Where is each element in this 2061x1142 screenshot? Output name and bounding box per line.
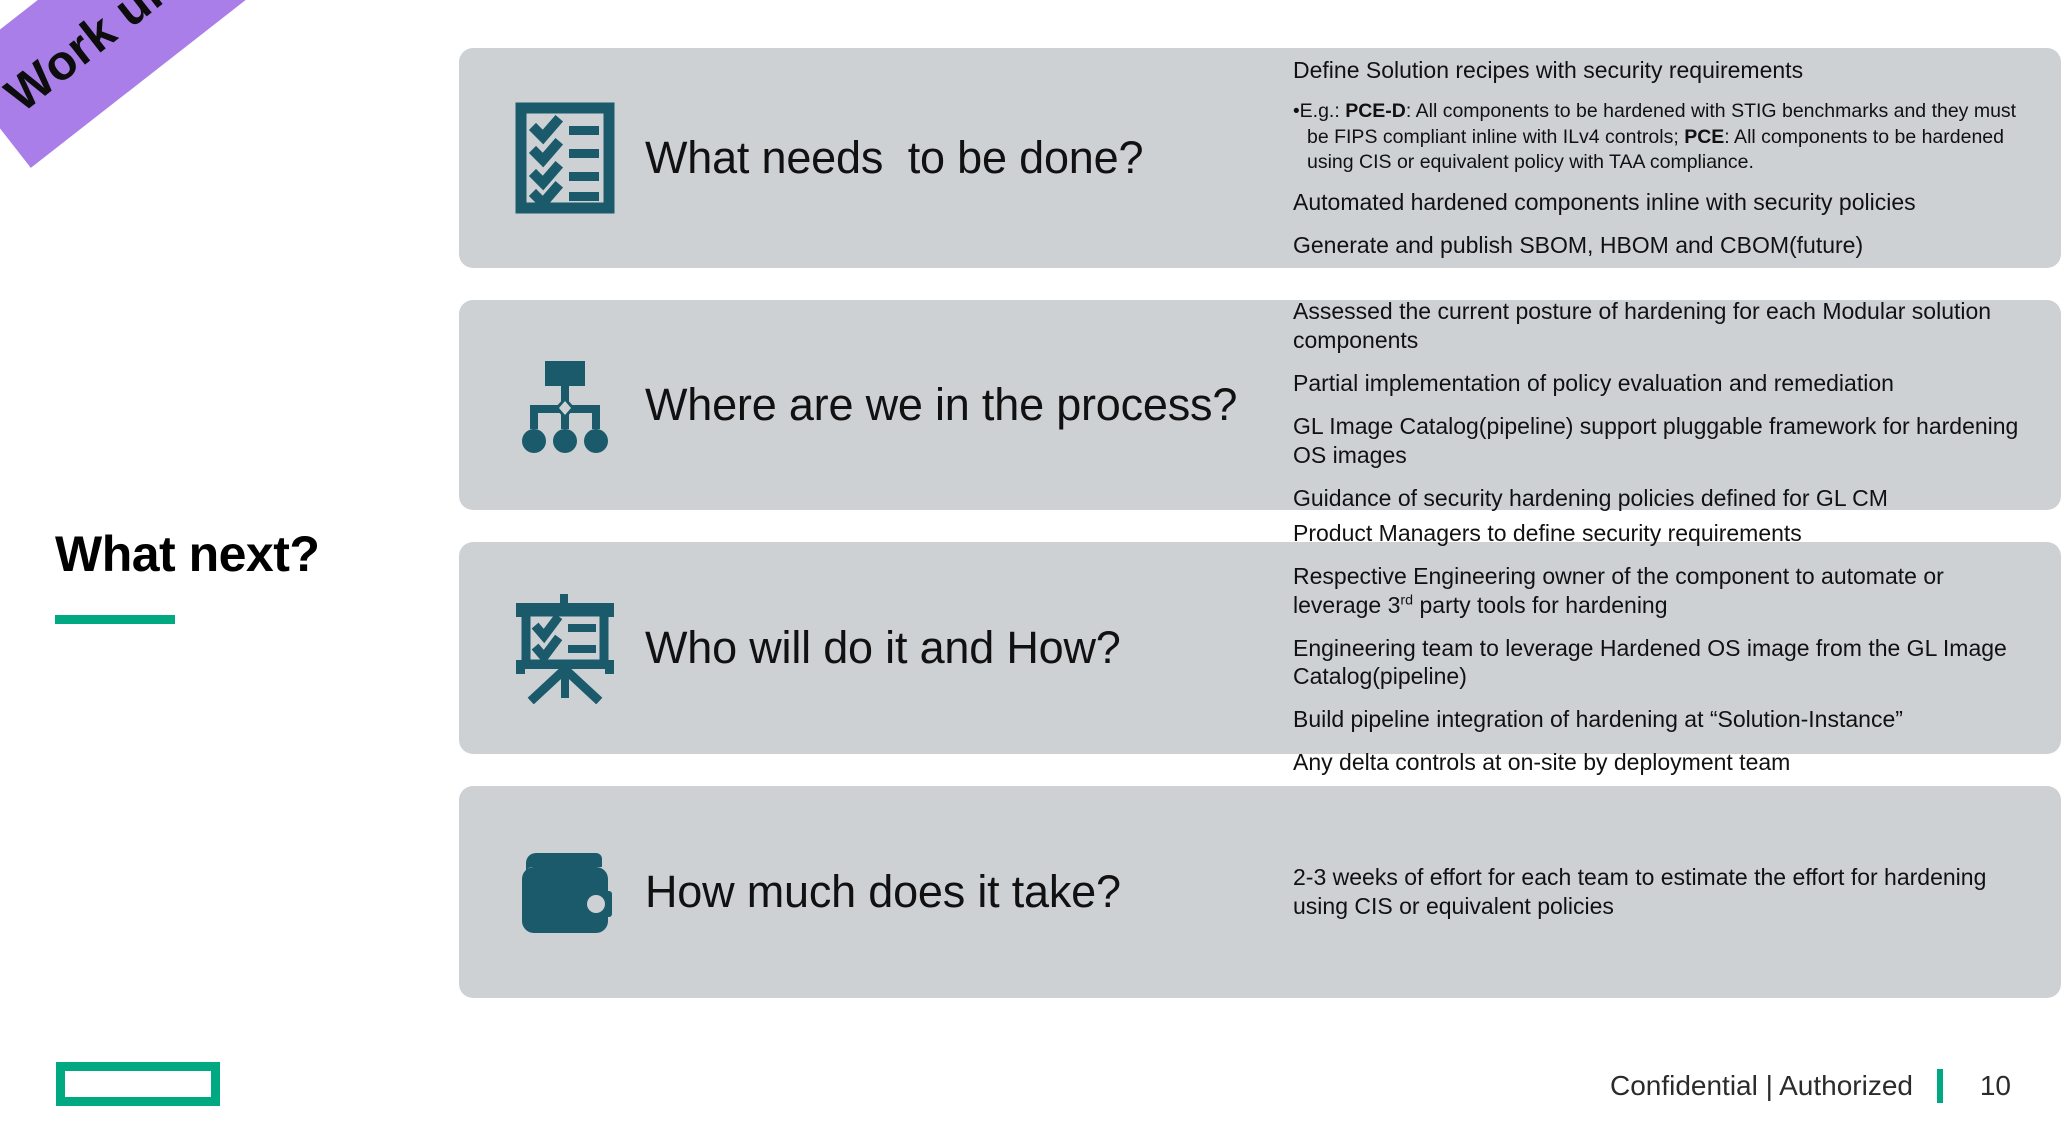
content-rows: What needs to be done? Define Solution r… [459, 48, 2061, 1030]
point-item: 2-3 weeks of effort for each team to est… [1293, 863, 2037, 921]
hierarchy-org-chart-icon [485, 353, 645, 457]
point-item-3rd-party: Respective Engineering owner of the comp… [1293, 562, 2037, 620]
point-item: Engineering team to leverage Hardened OS… [1293, 634, 2037, 692]
work-under-progress-banner: Work under Progress [0, 0, 472, 168]
point-item: Guidance of security hardening policies … [1293, 484, 2037, 513]
point-item: Product Managers to define security requ… [1293, 519, 2037, 548]
page-title: What next? [55, 528, 435, 581]
row-heading: How much does it take? [645, 866, 1285, 918]
row-heading: Where are we in the process? [645, 379, 1285, 431]
title-accent-rule [55, 615, 175, 624]
row-how-much-does-it-take[interactable]: How much does it take? 2-3 weeks of effo… [459, 786, 2061, 998]
point-item: Define Solution recipes with security re… [1293, 56, 2037, 85]
point-item: Any delta controls at on-site by deploym… [1293, 748, 2037, 777]
row-points: 2-3 weeks of effort for each team to est… [1285, 863, 2061, 921]
point-item: Partial implementation of policy evaluat… [1293, 369, 2037, 398]
footer: Confidential | Authorized 10 [1610, 1069, 2011, 1103]
row-heading: Who will do it and How? [645, 622, 1285, 674]
footer-divider [1937, 1069, 1943, 1103]
row-points: Define Solution recipes with security re… [1285, 56, 2061, 259]
point-item: Build pipeline integration of hardening … [1293, 705, 2037, 734]
slide-title-block: What next? [55, 528, 435, 624]
point-item: Assessed the current posture of hardenin… [1293, 297, 2037, 355]
point-item-example: •E.g.: PCE-D: All components to be harde… [1293, 99, 2037, 175]
row-where-are-we[interactable]: Where are we in the process? Assessed th… [459, 300, 2061, 510]
presentation-board-icon [485, 592, 645, 704]
confidentiality-label: Confidential | Authorized [1610, 1070, 1913, 1102]
wallet-icon [485, 845, 645, 939]
bullet-dot: • [1293, 101, 1300, 122]
point-item: Automated hardened components inline wit… [1293, 188, 2037, 217]
row-who-will-do-it[interactable]: Who will do it and How? Product Managers… [459, 542, 2061, 754]
point-item: GL Image Catalog(pipeline) support plugg… [1293, 412, 2037, 470]
row-points: Product Managers to define security requ… [1285, 519, 2061, 778]
checklist-clipboard-icon [485, 102, 645, 214]
point-item: Generate and publish SBOM, HBOM and CBOM… [1293, 231, 2037, 260]
page-number: 10 [1967, 1070, 2011, 1102]
row-points: Assessed the current posture of hardenin… [1285, 297, 2061, 513]
hpe-logo [56, 1062, 220, 1106]
row-what-needs-to-be-done[interactable]: What needs to be done? Define Solution r… [459, 48, 2061, 268]
work-under-progress-label: Work under Progress [0, 0, 429, 123]
row-heading: What needs to be done? [645, 132, 1285, 184]
